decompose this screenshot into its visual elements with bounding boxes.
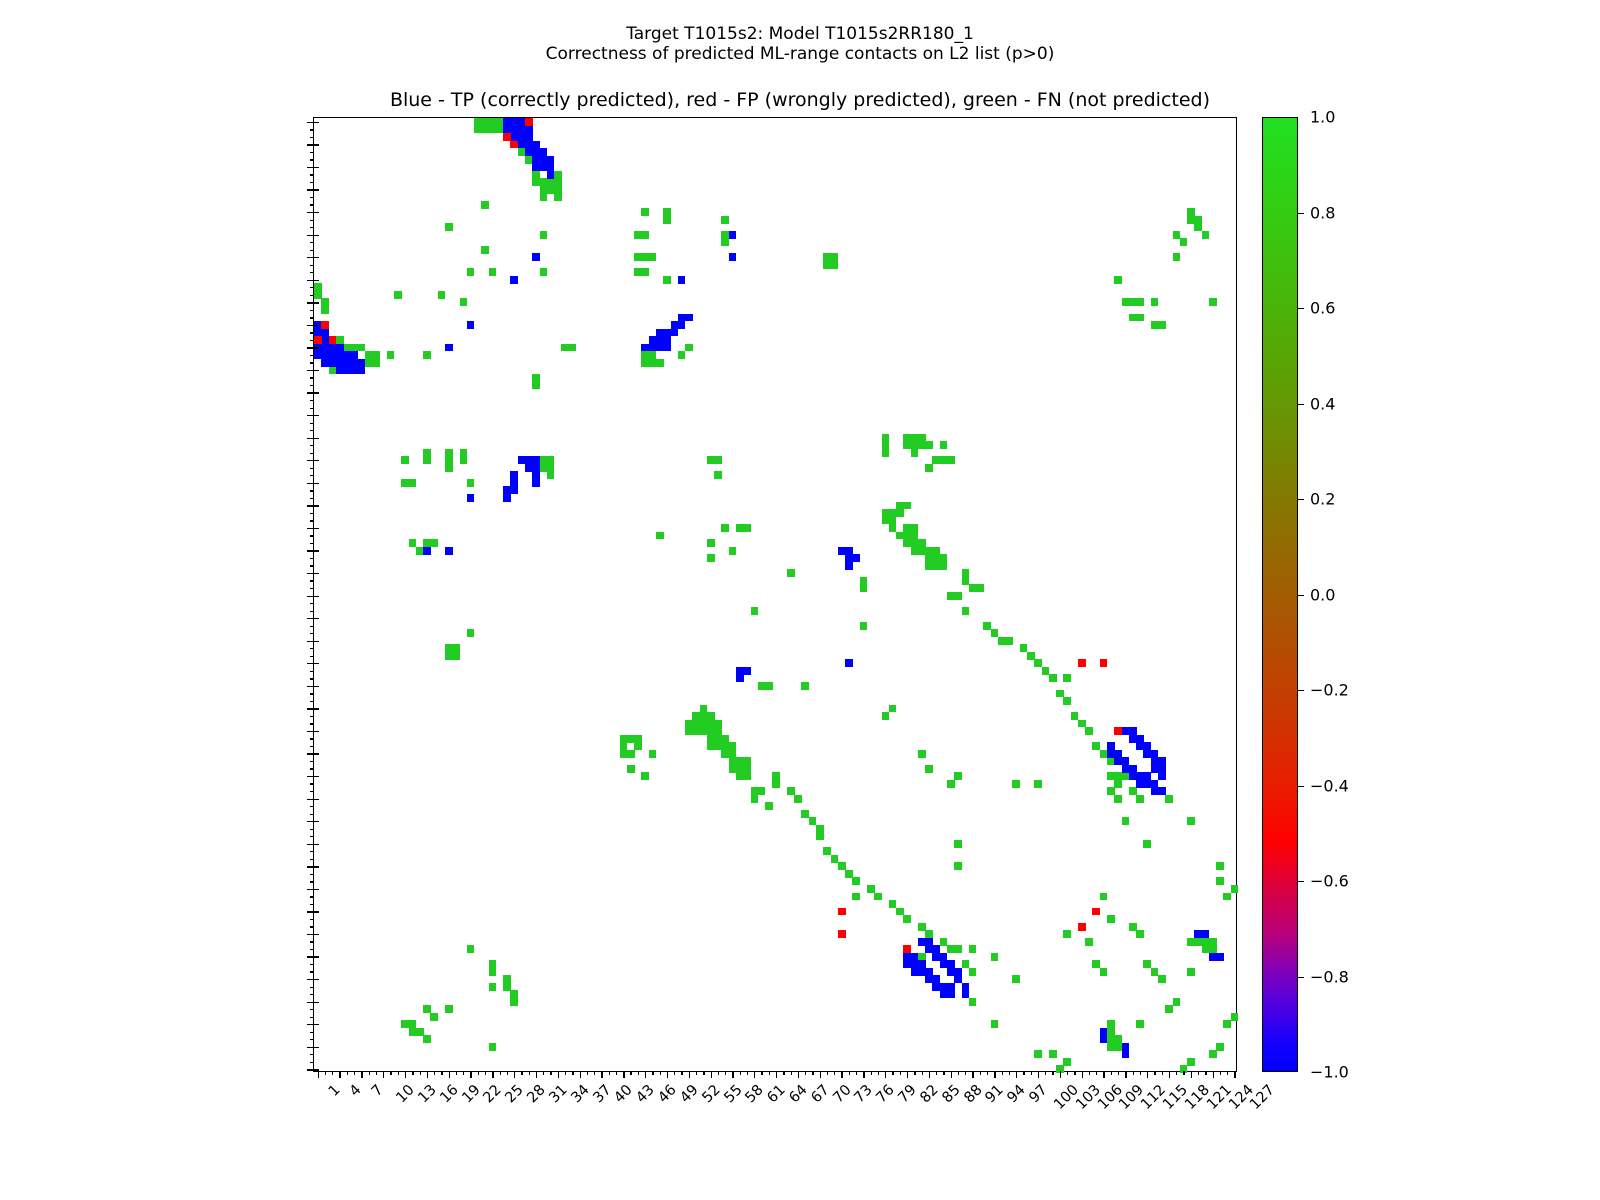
x-tick — [1009, 1071, 1010, 1075]
y-tick — [307, 460, 314, 461]
x-tick — [769, 1071, 770, 1075]
contact-cell-tp — [845, 562, 853, 570]
x-tick — [841, 1071, 842, 1078]
contact-cell-fp — [1078, 923, 1086, 931]
contact-cell-fn — [481, 201, 489, 209]
contact-cell-tp — [445, 547, 453, 555]
contact-cell-fn — [1005, 637, 1013, 645]
x-tick — [871, 1071, 872, 1075]
contact-cell-fp — [1114, 727, 1122, 735]
y-tick — [307, 934, 314, 935]
contact-cell-fn — [1136, 795, 1144, 803]
x-tick — [914, 1071, 915, 1075]
contact-cell-fn — [1165, 795, 1173, 803]
contact-cell-fn — [962, 607, 970, 615]
y-tick — [310, 1039, 314, 1040]
contact-cell-fn — [1114, 780, 1122, 788]
contact-cell-fn — [889, 705, 897, 713]
contact-cell-fn — [772, 780, 780, 788]
contact-cell-fn — [925, 464, 933, 472]
y-tick — [307, 911, 314, 912]
contact-cell-fn — [1085, 727, 1093, 735]
x-tick — [696, 1071, 697, 1075]
y-tick-inner — [314, 776, 319, 777]
x-tick — [441, 1071, 442, 1075]
contact-cell-fn — [409, 479, 417, 487]
contact-cell-fn — [1165, 1005, 1173, 1013]
x-tick — [958, 1071, 959, 1075]
colorbar-tick-label: 0.4 — [1310, 394, 1335, 413]
colorbar-tick — [1298, 595, 1304, 596]
x-axis-label: 1 — [325, 1082, 343, 1100]
colorbar-tick — [1298, 213, 1304, 214]
y-tick-inner — [314, 528, 319, 529]
x-tick — [1169, 1071, 1170, 1078]
contact-cell-fn — [510, 998, 518, 1006]
y-tick — [307, 889, 314, 890]
contact-cell-fn — [1114, 276, 1122, 284]
contact-cell-tp — [1158, 787, 1166, 795]
y-tick — [307, 1069, 314, 1070]
y-tick — [310, 648, 314, 649]
x-tick — [674, 1071, 675, 1075]
contact-cell-fn — [641, 231, 649, 239]
x-tick — [580, 1071, 581, 1078]
x-tick — [354, 1071, 355, 1075]
y-tick — [310, 836, 314, 837]
contact-cell-tp — [358, 366, 366, 374]
contact-cell-tp — [671, 329, 679, 337]
contact-cell-fn — [940, 938, 948, 946]
contact-cell-fn — [423, 1035, 431, 1043]
x-axis-label: 64 — [786, 1082, 810, 1106]
y-tick-inner — [314, 302, 319, 303]
contact-cell-fn — [729, 547, 737, 555]
contact-cell-fn — [1173, 998, 1181, 1006]
contact-cell-fn — [540, 268, 548, 276]
y-tick — [310, 272, 314, 273]
y-tick — [310, 408, 314, 409]
y-tick-inner — [314, 1069, 319, 1070]
colorbar-tick-label: −0.6 — [1310, 872, 1349, 891]
colorbar-tick-label: 0.0 — [1310, 585, 1335, 604]
x-tick — [812, 1071, 813, 1075]
y-tick — [307, 302, 314, 303]
y-tick-inner — [314, 708, 319, 709]
x-axis-label: 7 — [369, 1082, 387, 1100]
y-tick — [307, 325, 314, 326]
contact-cell-fn — [882, 712, 890, 720]
x-tick — [732, 1071, 733, 1078]
x-axis-label: 97 — [1026, 1082, 1050, 1106]
contact-cell-fp — [903, 945, 911, 953]
y-tick — [310, 829, 314, 830]
contact-cell-tp — [947, 990, 955, 998]
x-tick — [1162, 1071, 1163, 1075]
contact-cell-fn — [1187, 817, 1195, 825]
contact-cell-fn — [1100, 968, 1108, 976]
contact-cell-fn — [947, 780, 955, 788]
contact-cell-fn — [925, 441, 933, 449]
y-tick-inner — [314, 505, 319, 506]
contact-cell-fn — [736, 524, 744, 532]
x-tick — [405, 1071, 406, 1078]
contact-cell-fn — [423, 351, 431, 359]
x-tick — [412, 1071, 413, 1075]
contact-cell-fn — [751, 607, 759, 615]
contact-cell-fn — [1049, 674, 1057, 682]
x-tick — [1154, 1071, 1155, 1075]
colorbar[interactable]: 1.00.80.60.40.20.0−0.2−0.4−0.6−0.8−1.0 — [1262, 117, 1298, 1072]
y-tick — [310, 287, 314, 288]
contact-map-page: Target T1015s2: Model T1015s2RR180_1 Cor… — [0, 0, 1600, 1200]
contact-cell-fp — [838, 908, 846, 916]
contact-cell-fn — [649, 750, 657, 758]
colorbar-tick — [1298, 977, 1304, 978]
contact-cell-fn — [1187, 968, 1195, 976]
contact-cell-fp — [1100, 659, 1108, 667]
y-tick-inner — [314, 1002, 319, 1003]
contact-cell-fn — [918, 750, 926, 758]
contact-cell-fn — [903, 915, 911, 923]
contact-cell-fn — [954, 945, 962, 953]
contact-cell-fn — [1209, 1050, 1217, 1058]
x-tick — [492, 1071, 493, 1078]
contact-cell-fn — [1136, 314, 1144, 322]
contact-cell-fn — [794, 795, 802, 803]
x-tick — [1031, 1071, 1032, 1075]
colorbar-tick-label: −0.8 — [1310, 967, 1349, 986]
x-tick — [1205, 1071, 1206, 1075]
y-tick-inner — [314, 235, 319, 236]
y-tick — [307, 347, 314, 348]
page-title: Target T1015s2: Model T1015s2RR180_1 — [0, 24, 1600, 44]
x-tick — [1038, 1071, 1039, 1078]
y-tick — [307, 235, 314, 236]
y-tick-inner — [314, 370, 319, 371]
x-tick — [711, 1071, 712, 1078]
contact-cell-tp — [467, 321, 475, 329]
x-tick — [922, 1071, 923, 1075]
contact-cell-fn — [1173, 253, 1181, 261]
x-tick — [972, 1071, 973, 1078]
contact-cell-fn — [954, 840, 962, 848]
y-tick — [307, 483, 314, 484]
x-tick — [470, 1071, 471, 1078]
x-axis-label: 10 — [394, 1082, 418, 1106]
contact-cell-fn — [1151, 298, 1159, 306]
contact-cell-fn — [467, 629, 475, 637]
y-tick — [310, 671, 314, 672]
y-tick-inner — [314, 438, 319, 439]
contact-cell-fn — [896, 509, 904, 517]
x-tick — [740, 1071, 741, 1075]
contact-cell-fn — [1187, 1058, 1195, 1066]
x-tick — [776, 1071, 777, 1078]
y-tick — [307, 189, 314, 190]
x-axis-label: 85 — [939, 1082, 963, 1106]
y-tick — [310, 340, 314, 341]
contact-cell-fn — [649, 253, 657, 261]
contact-cell-fn — [467, 268, 475, 276]
contact-cell-fn — [627, 750, 635, 758]
y-tick — [310, 355, 314, 356]
y-tick — [307, 686, 314, 687]
page-subtitle: Correctness of predicted ML-range contac… — [0, 44, 1600, 64]
x-tick — [339, 1071, 340, 1078]
y-tick-inner — [314, 483, 319, 484]
contact-cell-fn — [882, 449, 890, 457]
x-tick — [594, 1071, 595, 1075]
y-tick — [310, 1032, 314, 1033]
x-tick — [456, 1071, 457, 1075]
contact-cell-fn — [569, 344, 577, 352]
contact-cell-fn — [532, 381, 540, 389]
x-tick — [885, 1071, 886, 1078]
x-tick — [500, 1071, 501, 1075]
x-axis-label: 4 — [347, 1082, 365, 1100]
y-tick-inner — [314, 641, 319, 642]
y-tick — [310, 204, 314, 205]
y-tick-inner — [314, 189, 319, 190]
x-tick — [325, 1071, 326, 1075]
y-tick — [310, 362, 314, 363]
y-tick-inner — [314, 280, 319, 281]
x-tick — [376, 1071, 377, 1075]
x-tick — [529, 1071, 530, 1075]
x-tick — [1023, 1071, 1024, 1075]
contact-cell-tp — [445, 344, 453, 352]
y-tick — [310, 250, 314, 251]
x-tick — [587, 1071, 588, 1075]
contact-cell-fn — [991, 953, 999, 961]
x-tick — [791, 1071, 792, 1075]
x-tick — [805, 1071, 806, 1075]
y-tick-inner — [314, 821, 319, 822]
x-tick — [1096, 1071, 1097, 1075]
x-tick — [623, 1071, 624, 1078]
y-tick — [310, 656, 314, 657]
y-tick — [310, 603, 314, 604]
contact-cell-fn — [678, 351, 686, 359]
contact-cell-fn — [903, 502, 911, 510]
y-tick — [310, 377, 314, 378]
x-tick — [463, 1071, 464, 1075]
contact-cell-fn — [969, 968, 977, 976]
x-tick — [980, 1071, 981, 1075]
contact-cell-fn — [787, 569, 795, 577]
contact-cell-fn — [1136, 930, 1144, 938]
x-tick — [907, 1071, 908, 1078]
y-tick-inner — [314, 596, 319, 597]
y-tick — [310, 565, 314, 566]
x-tick — [521, 1071, 522, 1075]
y-tick-inner — [314, 460, 319, 461]
y-tick — [307, 776, 314, 777]
y-tick — [307, 370, 314, 371]
y-tick — [307, 844, 314, 845]
contact-cell-fn — [445, 223, 453, 231]
x-tick — [1183, 1071, 1184, 1075]
contact-cell-fn — [721, 216, 729, 224]
contact-cell-fn — [561, 344, 569, 352]
contact-cell-fp — [510, 141, 518, 149]
contact-cell-fn — [489, 968, 497, 976]
contact-cell-fn — [656, 359, 664, 367]
x-tick — [1191, 1071, 1192, 1078]
x-tick — [616, 1071, 617, 1075]
contact-cell-fn — [1085, 938, 1093, 946]
x-tick — [369, 1071, 370, 1075]
colorbar-tick — [1298, 881, 1304, 882]
x-tick — [572, 1071, 573, 1075]
contact-cell-tp — [845, 659, 853, 667]
contact-cell-fn — [947, 456, 955, 464]
x-tick — [347, 1071, 348, 1075]
colorbar-tick-label: 0.8 — [1310, 203, 1335, 222]
x-tick — [361, 1071, 362, 1078]
contact-cell-fn — [445, 464, 453, 472]
x-tick — [936, 1071, 937, 1075]
contact-cell-tp — [510, 486, 518, 494]
contact-cell-fn — [634, 742, 642, 750]
x-axis-label: 79 — [896, 1082, 920, 1106]
x-tick — [703, 1071, 704, 1075]
contact-map-plot[interactable] — [313, 117, 1237, 1072]
contact-cell-fn — [969, 945, 977, 953]
x-tick — [420, 1071, 421, 1075]
x-tick — [1213, 1071, 1214, 1078]
y-tick — [310, 129, 314, 130]
y-tick — [307, 1002, 314, 1003]
y-tick — [310, 761, 314, 762]
y-tick — [310, 874, 314, 875]
colorbar-tick — [1298, 499, 1304, 500]
y-tick — [310, 791, 314, 792]
x-tick — [878, 1071, 879, 1075]
y-tick — [307, 866, 314, 867]
contact-cell-fn — [1216, 877, 1224, 885]
contact-cell-tp — [1100, 1035, 1108, 1043]
y-tick — [310, 513, 314, 514]
y-tick — [310, 423, 314, 424]
x-tick — [536, 1071, 537, 1078]
y-tick — [310, 310, 314, 311]
y-tick — [310, 896, 314, 897]
y-tick — [310, 1017, 314, 1018]
contact-cell-fn — [1231, 885, 1239, 893]
y-tick-inner — [314, 144, 319, 145]
x-tick — [965, 1071, 966, 1075]
contact-cell-fn — [714, 456, 722, 464]
x-tick — [514, 1071, 515, 1078]
y-tick — [310, 490, 314, 491]
y-tick — [310, 814, 314, 815]
contact-cell-fn — [874, 893, 882, 901]
contact-cell-fn — [663, 216, 671, 224]
contact-cell-fn — [438, 291, 446, 299]
y-tick — [310, 949, 314, 950]
y-tick — [310, 475, 314, 476]
y-tick — [310, 174, 314, 175]
x-tick — [1133, 1071, 1134, 1075]
y-tick — [307, 663, 314, 664]
colorbar-tick-label: 1.0 — [1310, 108, 1335, 127]
x-tick — [1118, 1071, 1119, 1075]
x-tick — [1060, 1071, 1061, 1078]
y-tick-inner — [314, 731, 319, 732]
y-tick-inner — [314, 392, 319, 393]
x-tick — [820, 1071, 821, 1078]
x-tick — [863, 1071, 864, 1078]
contact-cell-fn — [707, 539, 715, 547]
contact-cell-fn — [1223, 893, 1231, 901]
colorbar-tick-label: −0.2 — [1310, 681, 1349, 700]
y-tick — [310, 227, 314, 228]
x-tick — [645, 1071, 646, 1078]
x-tick — [1082, 1071, 1083, 1078]
contact-cell-fn — [976, 584, 984, 592]
y-tick — [310, 588, 314, 589]
x-tick — [1147, 1071, 1148, 1078]
y-tick — [310, 881, 314, 882]
contact-cell-fn — [1180, 238, 1188, 246]
contact-cell-fn — [1114, 795, 1122, 803]
contact-cell-tp — [423, 547, 431, 555]
y-tick — [310, 626, 314, 627]
contact-cell-tp — [838, 547, 846, 555]
contact-cell-fp — [321, 321, 329, 329]
y-tick — [307, 144, 314, 145]
y-tick-inner — [314, 866, 319, 867]
contact-cell-fn — [1012, 780, 1020, 788]
x-tick — [1067, 1071, 1068, 1075]
y-tick-inner — [314, 956, 319, 957]
x-axis-label: 61 — [765, 1082, 789, 1106]
y-tick-inner — [314, 889, 319, 890]
contact-cell-tp — [852, 554, 860, 562]
x-tick — [478, 1071, 479, 1075]
x-tick — [1089, 1071, 1090, 1075]
contact-cell-fn — [540, 193, 548, 201]
y-tick — [307, 708, 314, 709]
x-tick — [681, 1071, 682, 1075]
contact-cell-fp — [838, 930, 846, 938]
y-tick — [310, 580, 314, 581]
contact-cell-fn — [321, 306, 329, 314]
y-tick — [307, 415, 314, 416]
y-tick — [307, 392, 314, 393]
contact-cell-fn — [940, 562, 948, 570]
x-axis-label: 82 — [917, 1082, 941, 1106]
x-tick — [1220, 1071, 1221, 1075]
contact-cell-fn — [758, 787, 766, 795]
y-tick — [310, 964, 314, 965]
y-tick-inner — [314, 1047, 319, 1048]
y-tick — [307, 280, 314, 281]
y-tick-inner — [314, 753, 319, 754]
colorbar-gradient — [1262, 117, 1298, 1072]
y-tick — [307, 167, 314, 168]
y-tick — [310, 926, 314, 927]
y-tick-inner — [314, 347, 319, 348]
x-tick — [994, 1071, 995, 1078]
y-tick — [310, 994, 314, 995]
y-tick — [307, 956, 314, 957]
contact-cell-fn — [831, 261, 839, 269]
y-tick-inner — [314, 663, 319, 664]
y-tick — [307, 528, 314, 529]
